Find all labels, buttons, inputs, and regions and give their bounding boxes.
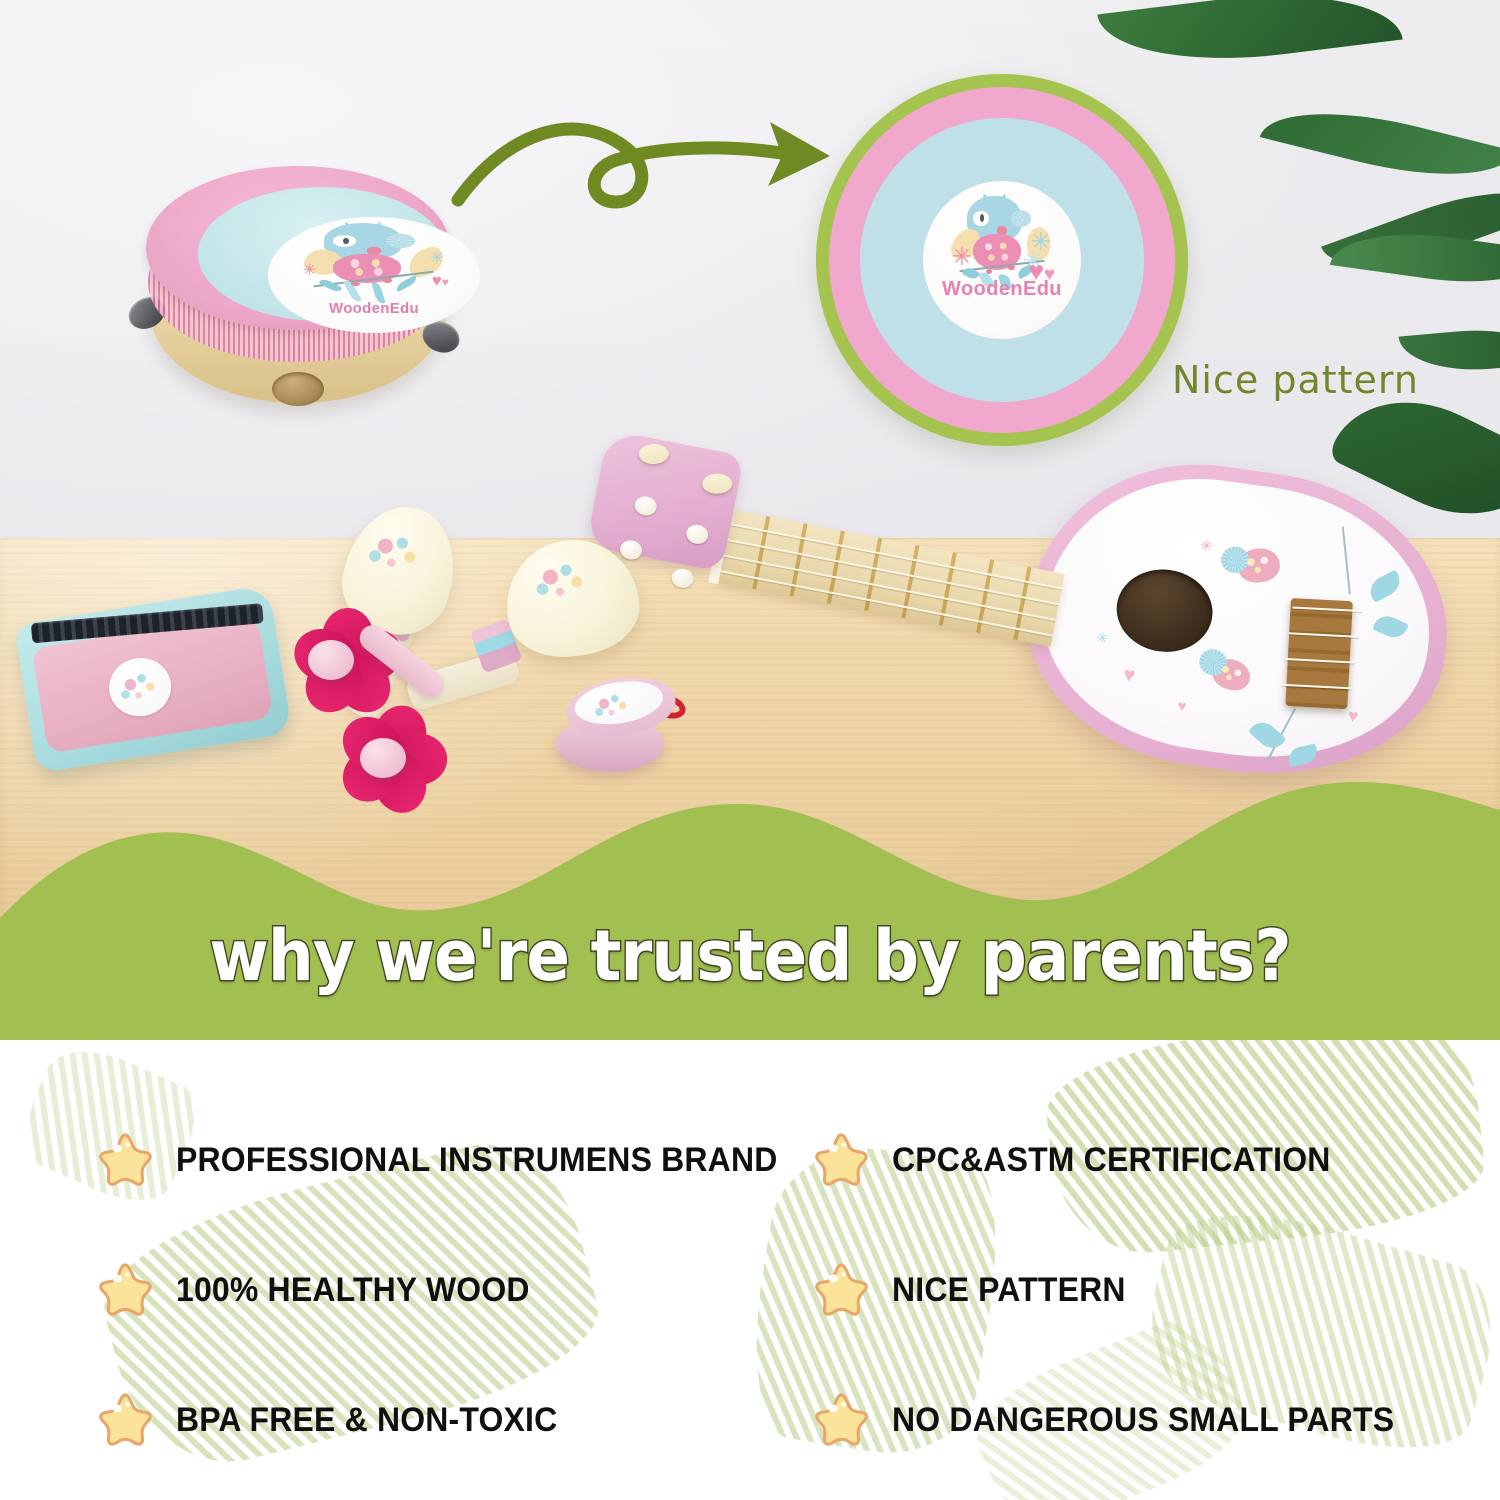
- owl-illustration: ✳ ✳ ♥♥: [285, 222, 463, 308]
- ukulele-neck-fretboard: [715, 509, 1065, 647]
- heart-decal-icon: ♥: [1347, 706, 1360, 725]
- leaf-icon: [395, 275, 419, 292]
- floral-decal-icon: [114, 664, 165, 708]
- sparkle-decal-icon: ✳: [1199, 538, 1214, 555]
- product-photo-scene: ✳ ✳ ♥♥ WoodenEdu: [0, 0, 1500, 1040]
- ukulele-soundboard: ♥ ♥ ♥ ✳ ✳: [1027, 458, 1447, 779]
- feature-item: NICE PATTERN: [812, 1262, 1141, 1318]
- nice-pattern-callout: Nice pattern: [1172, 358, 1419, 402]
- leaf-decal-icon: [1286, 743, 1319, 767]
- tambourine-thumb-hole: [272, 372, 324, 406]
- berry-icon: [1008, 265, 1014, 270]
- berry-icon: [351, 282, 360, 286]
- magnifier-pink-ring: ✳ ✳ ✳ ♥♥ WoodenEdu: [829, 87, 1175, 433]
- feature-item: NO DANGEROUS SMALL PARTS: [812, 1392, 1426, 1448]
- floral-decal-icon: [530, 554, 595, 606]
- magnifier-blue-ring: ✳ ✳ ✳ ♥♥ WoodenEdu: [860, 118, 1144, 402]
- feature-label: PROFESSIONAL INSTRUMENS BRAND: [176, 1141, 777, 1180]
- tambourine-product: ✳ ✳ ♥♥ WoodenEdu: [122, 160, 474, 420]
- owl-ear-icon: [369, 219, 387, 236]
- feature-label: CPC&ASTM CERTIFICATION: [892, 1141, 1331, 1180]
- tuning-peg-icon: [702, 473, 732, 494]
- tambourine-blue-ring: ✳ ✳ ♥♥ WoodenEdu: [198, 187, 446, 321]
- feature-label: 100% HEALTHY WOOD: [176, 1271, 530, 1310]
- ladybug-decal-icon: [1236, 546, 1281, 584]
- star-icon: [812, 1132, 870, 1188]
- owl-ear-icon: [977, 191, 995, 208]
- heart-decal-icon: ♥: [1122, 665, 1137, 686]
- feature-label: NICE PATTERN: [892, 1271, 1126, 1310]
- star-icon: [96, 1392, 154, 1448]
- berry-icon: [986, 269, 992, 274]
- star-icon: [96, 1262, 154, 1318]
- heart-decal-icon: ♥: [1176, 698, 1187, 714]
- sparkle-icon: ✳: [951, 245, 972, 270]
- product-infographic: ✳ ✳ ♥♥ WoodenEdu: [0, 0, 1500, 1500]
- feature-label: BPA FREE & NON-TOXIC: [176, 1401, 557, 1440]
- star-icon: [96, 1132, 154, 1188]
- magnifier-white-face: ✳ ✳ ✳ ♥♥ WoodenEdu: [923, 181, 1081, 339]
- magnifier-brand-label: WoodenEdu: [923, 278, 1081, 301]
- feature-item: 100% HEALTHY WOOD: [96, 1262, 552, 1318]
- feature-label: NO DANGEROUS SMALL PARTS: [892, 1401, 1394, 1440]
- leaf-icon: [319, 277, 343, 294]
- ladybug-decal-icon: [1209, 654, 1254, 694]
- owl-eye-icon: [973, 211, 989, 226]
- berry-icon: [383, 278, 392, 282]
- sparkle-decal-icon: ✳: [1095, 631, 1110, 648]
- owl-ear-icon: [339, 219, 357, 236]
- features-list: PROFESSIONAL INSTRUMENS BRAND CPC&ASTM C…: [0, 1040, 1500, 1500]
- curved-arrow-icon: [438, 82, 858, 302]
- tuner-button-icon: [633, 494, 658, 517]
- rattle-knob: [308, 640, 354, 680]
- tambourine-brand-label: WoodenEdu: [268, 300, 480, 317]
- green-hill-band: [0, 768, 1500, 1040]
- leaf-decal-icon: [1365, 569, 1404, 603]
- leaf-decal-icon: [1248, 716, 1287, 754]
- tambourine-pink-head: ✳ ✳ ♥♥ WoodenEdu: [146, 166, 450, 330]
- feature-item: CPC&ASTM CERTIFICATION: [812, 1132, 1359, 1188]
- ukulele-bridge: [1285, 598, 1353, 709]
- star-icon: [812, 1262, 870, 1318]
- owl-ear-icon: [994, 191, 1012, 208]
- magnified-pattern-circle: ✳ ✳ ✳ ♥♥ WoodenEdu: [816, 74, 1188, 446]
- ukulele-body: ♥ ♥ ♥ ✳ ✳: [1009, 442, 1467, 798]
- features-panel: PROFESSIONAL INSTRUMENS BRAND CPC&ASTM C…: [0, 1040, 1500, 1500]
- page-headline: why we're trusted by parents?: [60, 915, 1440, 997]
- ukulele-sound-hole: [1111, 563, 1217, 658]
- floral-decal-icon: [589, 687, 636, 723]
- tuning-peg-icon: [639, 444, 669, 465]
- feature-item: BPA FREE & NON-TOXIC: [96, 1392, 582, 1448]
- twig-icon: [1342, 527, 1351, 595]
- owl-eye-icon: [1011, 210, 1031, 227]
- leaf-decal-icon: [1372, 612, 1409, 642]
- feature-item: PROFESSIONAL INSTRUMENS BRAND: [96, 1132, 816, 1188]
- ukulele-product: ♥ ♥ ♥ ✳ ✳: [596, 404, 1476, 804]
- star-icon: [812, 1392, 870, 1448]
- owl-eye-icon: [386, 234, 414, 248]
- sparkle-icon: ✳: [303, 263, 316, 279]
